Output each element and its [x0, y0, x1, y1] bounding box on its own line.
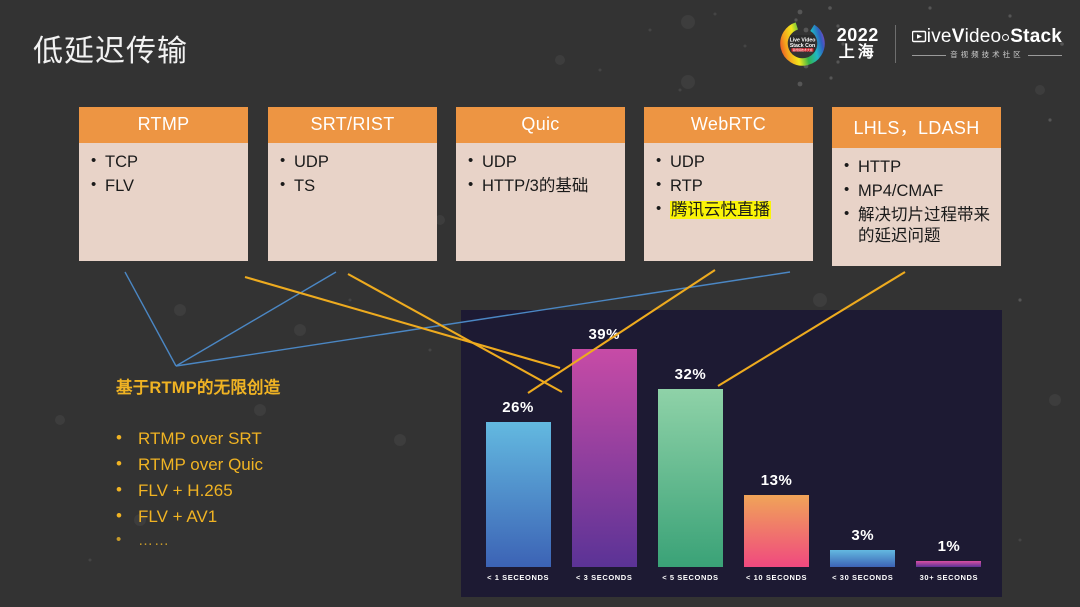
page-title: 低延迟传输	[33, 26, 188, 70]
chart-bar: 26%	[486, 316, 551, 567]
chart-bar-rect	[486, 422, 551, 567]
list-item: FLV + AV1	[116, 504, 280, 530]
logo-year: 2022	[837, 26, 879, 45]
chart-bar-value-label: 3%	[851, 527, 874, 544]
protocol-card-srt-rist[interactable]: SRT/RIST UDP TS	[268, 107, 437, 261]
logo-brand-part1: ive	[927, 26, 952, 47]
card-title: Quic	[456, 107, 625, 143]
chart-x-tick-label: < 3 SECONDS	[561, 573, 647, 582]
card-title: LHLS，LDASH	[832, 107, 1001, 148]
chart-bar-value-label: 39%	[588, 326, 620, 343]
tagline-rule-right	[1028, 55, 1062, 56]
list-item: RTMP over SRT	[116, 426, 280, 452]
chart-bar-value-label: 13%	[761, 472, 793, 489]
card-body: HTTP MP4/CMAF 解决切片过程带来的延迟问题	[832, 148, 1001, 266]
conference-ring-icon: Live Video Stack Con 音视频技术大会	[779, 20, 826, 67]
dot-icon	[1002, 34, 1009, 41]
list-item: UDP	[280, 152, 437, 174]
card-title: WebRTC	[644, 107, 813, 143]
card-title: RTMP	[79, 107, 248, 143]
chart-x-tick-label: < 30 SECONDS	[820, 573, 906, 582]
list-item: ……	[116, 530, 280, 553]
card-list: UDP RTP 腾讯云快直播	[656, 152, 813, 221]
list-item: MP4/CMAF	[844, 181, 1001, 203]
chart-bar-rect	[830, 550, 895, 567]
chart-bar-rect	[572, 349, 637, 567]
logo-year-city: 2022 上海	[837, 26, 879, 62]
list-item: UDP	[468, 152, 625, 174]
list-item: HTTP	[844, 157, 1001, 179]
chart-x-tick-label: 30+ SECONDS	[906, 573, 992, 582]
play-icon	[912, 29, 927, 44]
connector-line-srt	[176, 272, 336, 366]
rtmp-block-list: RTMP over SRT RTMP over Quic FLV + H.265…	[116, 426, 280, 553]
connector-line-rtmp	[125, 272, 176, 366]
logo-city: 上海	[837, 45, 879, 62]
list-item: HTTP/3的基础	[468, 176, 625, 198]
logo-brand-name: iveVideoStack	[912, 27, 1062, 48]
list-item: FLV + H.265	[116, 478, 280, 504]
protocol-card-webrtc[interactable]: WebRTC UDP RTP 腾讯云快直播	[644, 107, 813, 261]
list-item: 腾讯云快直播	[656, 200, 813, 222]
logo-tagline-row: 音视频技术社区	[912, 51, 1062, 59]
tagline-rule-left	[912, 55, 946, 56]
chart-bar: 1%	[916, 316, 981, 567]
list-item: RTMP over Quic	[116, 452, 280, 478]
rtmp-innovation-block: 基于RTMP的无限创造 RTMP over SRT RTMP over Quic…	[116, 374, 280, 553]
protocol-card-rtmp[interactable]: RTMP TCP FLV	[79, 107, 248, 261]
chart-bar: 39%	[572, 316, 637, 567]
chart-plot-area: 26%39%32%13%3%1%	[475, 316, 992, 567]
chart-bar: 32%	[658, 316, 723, 567]
livevideostack-logo: Live Video Stack Con 音视频技术大会 2022 上海 ive…	[779, 20, 1062, 67]
list-item: UDP	[656, 152, 813, 174]
card-list: HTTP MP4/CMAF 解决切片过程带来的延迟问题	[844, 157, 1001, 248]
chart-bar-rect	[916, 561, 981, 567]
chart-bar-rect	[744, 495, 809, 568]
rtmp-block-heading: 基于RTMP的无限创造	[116, 374, 280, 398]
card-body: TCP FLV	[79, 143, 248, 261]
list-item: RTP	[656, 176, 813, 198]
latency-distribution-chart: 26%39%32%13%3%1% < 1 SECEONDS< 3 SECONDS…	[461, 310, 1002, 597]
card-list: UDP TS	[280, 152, 437, 198]
chart-bar-value-label: 26%	[502, 399, 534, 416]
chart-x-tick-label: < 1 SECEONDS	[475, 573, 561, 582]
list-item: FLV	[91, 176, 248, 198]
chart-bar: 13%	[744, 316, 809, 567]
card-body: UDP TS	[268, 143, 437, 261]
card-body: UDP HTTP/3的基础	[456, 143, 625, 261]
logo-brand-part4: Stack	[1010, 26, 1062, 47]
protocol-card-quic[interactable]: Quic UDP HTTP/3的基础	[456, 107, 625, 261]
card-list: TCP FLV	[91, 152, 248, 198]
list-item: TCP	[91, 152, 248, 174]
card-title: SRT/RIST	[268, 107, 437, 143]
logo-brand-part2: V	[952, 26, 965, 47]
chart-bar-value-label: 32%	[675, 366, 707, 383]
card-body: UDP RTP 腾讯云快直播	[644, 143, 813, 261]
list-item: TS	[280, 176, 437, 198]
chart-x-axis: < 1 SECEONDS< 3 SECONDS< 5 SECONDS< 10 S…	[475, 573, 992, 589]
list-item: 解决切片过程带来的延迟问题	[844, 205, 1001, 249]
protocol-card-lhls-ldash[interactable]: LHLS，LDASH HTTP MP4/CMAF 解决切片过程带来的延迟问题	[832, 107, 1001, 266]
highlighted-text: 腾讯云快直播	[670, 201, 771, 219]
chart-x-tick-label: < 5 SECONDS	[647, 573, 733, 582]
logo-divider	[895, 25, 896, 63]
card-list: UDP HTTP/3的基础	[468, 152, 625, 198]
chart-x-tick-label: < 10 SECONDS	[734, 573, 820, 582]
chart-bar-rect	[658, 389, 723, 567]
logo-tagline: 音视频技术社区	[950, 51, 1024, 59]
logo-brand-part3: ideo	[965, 26, 1002, 47]
svg-text:音视频技术大会: 音视频技术大会	[792, 47, 812, 52]
chart-bar-value-label: 1%	[938, 538, 961, 555]
chart-bar: 3%	[830, 316, 895, 567]
